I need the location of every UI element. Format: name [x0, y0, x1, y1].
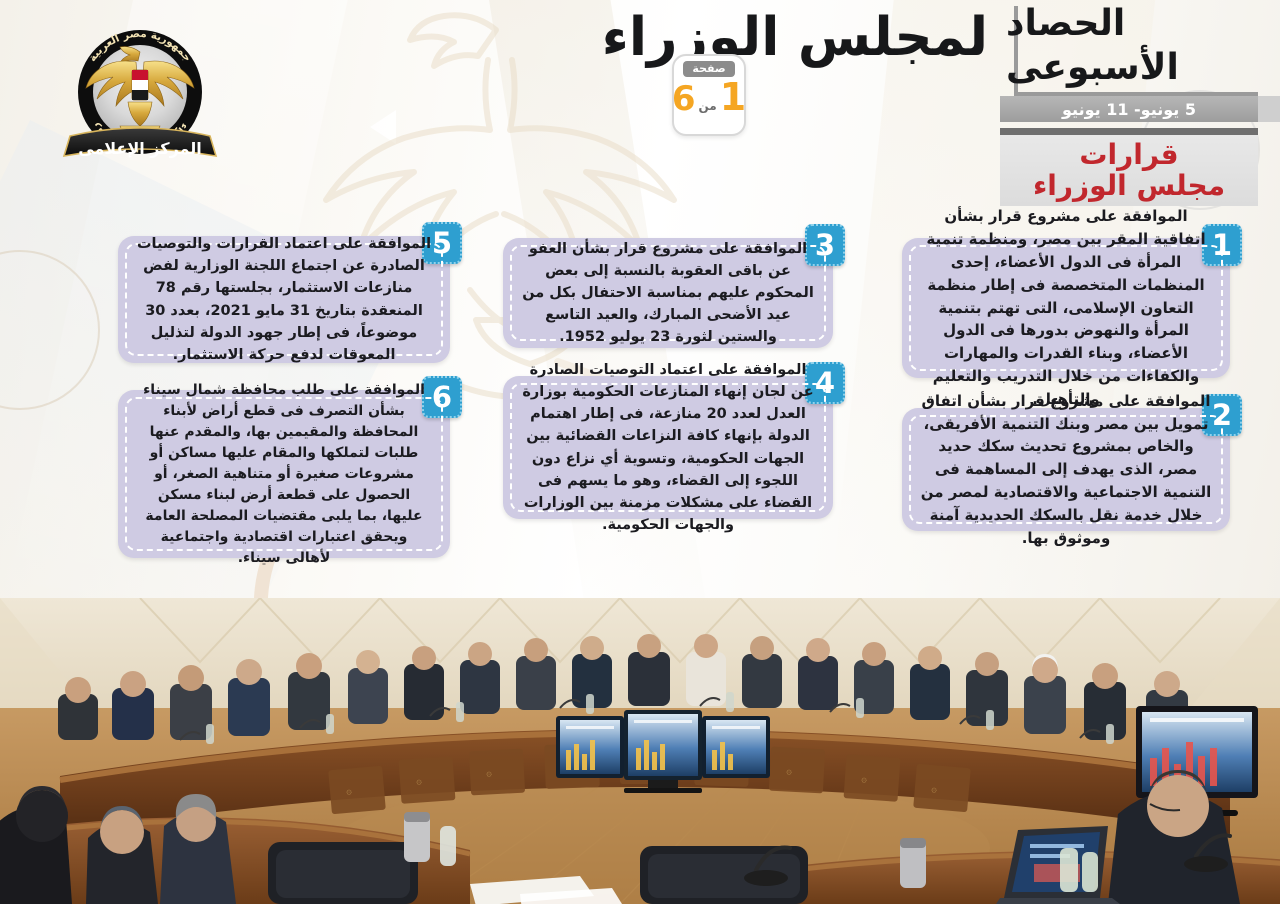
decision-card-inner: الموافقة على مشروع قرار بشأن اتفاقية الم…	[909, 245, 1223, 371]
section-title-line2: مجلس الوزراء	[1033, 171, 1225, 201]
page-title-main: لمجلس الوزراء	[602, 8, 988, 69]
decision-text: الموافقة على اعتماد القرارات والتوصيات ا…	[136, 233, 432, 365]
section-title-line1: قرارات	[1079, 140, 1178, 170]
decision-card: 3 الموافقة على مشروع قرار بشأن العفو عن …	[503, 238, 833, 348]
cabinet-emblem-logo: جمهورية مصر العربية رئاسة مجلس الوزراء	[52, 18, 232, 188]
page-title-side-line1: الحصاد	[1006, 2, 1258, 46]
decision-card: 5 الموافقة على اعتماد القرارات والتوصيات…	[118, 236, 450, 363]
page-title-side: الحصاد الأسبوعى	[1000, 2, 1258, 90]
decision-card-inner: الموافقة على اعتماد القرارات والتوصيات ا…	[125, 243, 443, 356]
decision-card-inner: الموافقة على مشروع قرار بشأن العفو عن با…	[510, 245, 826, 341]
svg-text:۞: ۞	[861, 774, 867, 785]
decision-card-inner: الموافقة على اعتماد التوصيات الصادرة عن …	[510, 383, 826, 512]
svg-text:۞: ۞	[786, 766, 792, 777]
date-band-tail	[1258, 96, 1280, 122]
page-badge-numbers: 1 من 6	[672, 78, 746, 116]
svg-text:۞: ۞	[416, 776, 422, 787]
decision-text: الموافقة على طلب محافظة شمال سيناء بشأن …	[136, 380, 432, 569]
svg-text:۞: ۞	[346, 786, 352, 797]
svg-text:۞: ۞	[486, 768, 492, 779]
page-badge-total: 6	[672, 82, 696, 116]
decision-card: 4 الموافقة على اعتماد التوصيات الصادرة ع…	[503, 376, 833, 519]
decision-text: الموافقة على مشروع قرار بشأن اتفاق تمويل…	[920, 390, 1212, 550]
page-badge-current: 1	[720, 78, 746, 116]
svg-text:المركز الإعلامى: المركز الإعلامى	[78, 139, 202, 158]
decision-card: 2 الموافقة على مشروع قرار بشأن اتفاق تمو…	[902, 408, 1230, 531]
header: جمهورية مصر العربية رئاسة مجلس الوزراء	[0, 0, 1280, 210]
decision-text: الموافقة على مشروع قرار بشأن اتفاقية الم…	[920, 205, 1212, 410]
page-number-badge: صفحة 1 من 6	[672, 54, 746, 136]
infographic-page: جمهورية مصر العربية رئاسة مجلس الوزراء	[0, 0, 1280, 904]
decision-card: 6 الموافقة على طلب محافظة شمال سيناء بشأ…	[118, 390, 450, 558]
svg-text:۞: ۞	[931, 784, 937, 795]
decision-text: الموافقة على اعتماد التوصيات الصادرة عن …	[521, 359, 815, 535]
page-badge-of: من	[698, 100, 716, 112]
decision-text: الموافقة على مشروع قرار بشأن العفو عن با…	[521, 238, 815, 348]
page-title-side-line2: الأسبوعى	[1006, 46, 1258, 90]
decision-card: 1 الموافقة على مشروع قرار بشأن اتفاقية ا…	[902, 238, 1230, 378]
decision-card-inner: الموافقة على طلب محافظة شمال سيناء بشأن …	[125, 397, 443, 551]
cabinet-meeting-photo: ۞۞۞ ۞۞۞ ۞۞۞	[0, 598, 1280, 904]
date-range-band: 5 يونيو- 11 يونيو	[1000, 96, 1258, 122]
decision-card-inner: الموافقة على مشروع قرار بشأن اتفاق تمويل…	[909, 415, 1223, 524]
section-title-block: قرارات مجلس الوزراء	[1000, 128, 1258, 206]
